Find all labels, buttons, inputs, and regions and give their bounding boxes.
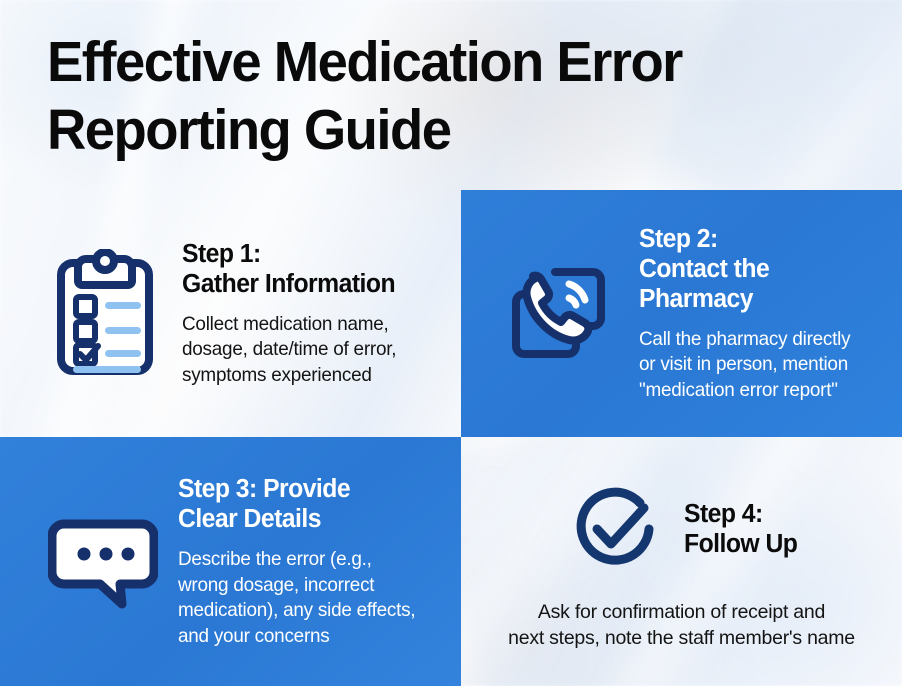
step-3-body: Describe the error (e.g., wrong dosage, …: [178, 547, 441, 649]
step-card-3: Step 3: Provide Clear Details Describe t…: [0, 437, 461, 686]
step-2-heading: Step 2: Contact the Pharmacy: [639, 224, 881, 314]
steps-grid: Step 1: Gather Information Collect medic…: [0, 190, 902, 686]
phone-call-icon: [501, 258, 621, 370]
step-card-4: Step 4: Follow Up Ask for confirmation o…: [461, 437, 902, 686]
clipboard-checklist-icon: [46, 249, 164, 379]
step-1-heading: Step 1: Gather Information: [182, 239, 441, 299]
step-3-heading: Step 3: Provide Clear Details: [178, 474, 441, 534]
step-4-body: Ask for confirmation of receipt and next…: [508, 599, 855, 651]
chat-bubble-icon: [44, 512, 162, 612]
step-card-2: Step 2: Contact the Pharmacy Call the ph…: [461, 190, 902, 437]
step-2-body: Call the pharmacy directly or visit in p…: [639, 327, 881, 404]
step-1-body: Collect medication name, dosage, date/ti…: [182, 312, 441, 389]
step-card-1: Step 1: Gather Information Collect medic…: [0, 190, 461, 437]
infographic-poster: Effective Medication Error Reporting Gui…: [0, 0, 902, 686]
header: Effective Medication Error Reporting Gui…: [47, 28, 847, 164]
page-title: Effective Medication Error Reporting Gui…: [47, 28, 811, 164]
step-4-heading: Step 4: Follow Up: [684, 499, 797, 559]
check-circle-icon: [562, 481, 670, 577]
